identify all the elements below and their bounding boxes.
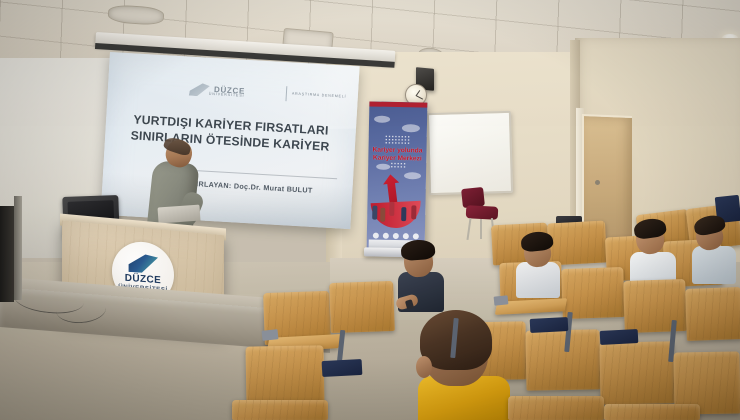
seat-back-r2-4[interactable] [599,341,674,404]
banner-cloud-2 [402,124,420,132]
student-middle-hair [400,239,435,261]
student-yellow-hoodie-ear [416,356,432,378]
laptop[interactable] [157,205,200,224]
banner-cloud-3 [376,164,390,170]
door-handle-icon[interactable] [595,180,600,185]
banner-figure-4 [401,207,406,221]
banner-icon-3 [393,232,399,238]
seat-back-r1-2[interactable] [508,396,604,420]
banner-dot-pattern-1 [385,135,411,144]
projection-screen: DÜZCE ÜNİVERSİTESİ ARAŞTIRMA DENEMELİ YU… [101,52,360,229]
banner-cloud-1 [374,116,390,123]
banner-figure-3 [389,202,394,216]
student-back-right-body [692,246,736,284]
banner-figure-1 [372,206,377,220]
seat-cushion-navy-1 [322,359,363,377]
banner-icon-1 [373,232,379,238]
seat-back-r1-3[interactable] [604,404,700,420]
seat-back-r1-1[interactable] [232,400,328,420]
seat-back-r3-6[interactable] [685,287,740,341]
seat-back-r2-3[interactable] [525,329,600,390]
whiteboard [427,111,513,195]
banner-figure-5 [411,205,416,219]
lecture-hall-photo: DÜZCE ÜNİVERSİTESİ ARAŞTIRMA DENEMELİ YU… [0,0,740,420]
seat-cushion-navy-3 [600,329,639,345]
seat-bracket-2 [494,295,509,305]
duzce-swoosh-icon [128,253,158,274]
doorway-frame-left [14,196,22,300]
banner-figure-2 [380,208,385,222]
banner-title: Kariyer yolunda Kariyer Merkezi [371,147,423,164]
chair-leg-3 [480,219,482,239]
seat-back-r3-2[interactable] [329,281,395,333]
banner-top-bar [369,101,427,107]
rollup-banner: Kariyer yolunda Kariyer Merkezi [367,101,428,250]
seat-back-r3-5[interactable] [623,279,687,333]
banner-icon-4 [403,233,409,239]
seat-cushion-navy-2 [530,317,569,333]
dark-doorway-left [0,206,14,302]
duzce-swoosh-icon [189,82,211,96]
banner-title-line2: Kariyer Merkezi [371,155,423,164]
student-front-left-body [516,262,560,298]
banner-icon-5 [413,233,419,239]
seat-back-r4-2[interactable] [547,221,607,266]
screen-glare-2 [244,52,359,182]
banner-icon-row [373,232,419,240]
seat-back-r2-1[interactable] [245,345,324,406]
banner-icon-2 [383,232,389,238]
seat-bracket-1 [262,329,279,341]
banner-cloud-4 [404,172,421,179]
